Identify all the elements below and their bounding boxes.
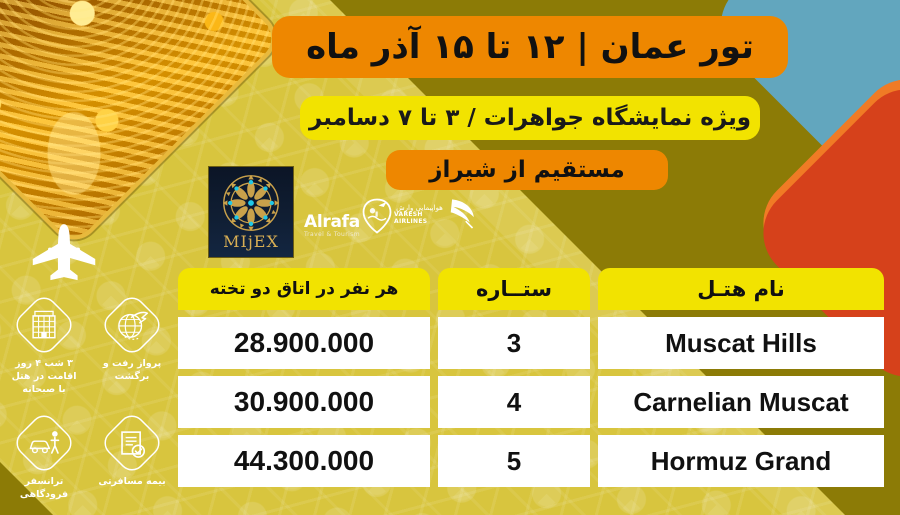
- feature-item-insurance: بیمه مسافرتی: [88, 414, 176, 502]
- features-list: پرواز رفت و برگشت: [0, 296, 176, 502]
- feature-label-transfer: ترانسفر فرودگاهی: [0, 476, 88, 502]
- varesh-logo-name-en: VARESH AIRLINES: [394, 212, 445, 226]
- cell-price: 44.300.000: [178, 435, 430, 487]
- advertisement-banner: تور عمان | ۱۲ تا ۱۵ آذر ماه ویژه نمایشگا…: [0, 0, 900, 515]
- header-star: ستــاره: [438, 268, 590, 310]
- price-table: نام هتـل ستــاره هر نفر در اتاق دو تخته …: [178, 268, 884, 494]
- cell-hotel-name: Muscat Hills: [598, 317, 884, 369]
- logo-group: MIjEX Alrafa Travel & Tourism: [208, 166, 478, 264]
- cell-price: 28.900.000: [178, 317, 430, 369]
- cell-star: 5: [438, 435, 590, 487]
- feature-item-flight: پرواز رفت و برگشت: [88, 296, 176, 396]
- globe-plane-icon: [103, 296, 161, 354]
- cell-hotel-name: Carnelian Muscat: [598, 376, 884, 428]
- feature-label-flight: پرواز رفت و برگشت: [88, 358, 176, 384]
- mijex-logo-text: MIjEX: [223, 234, 279, 250]
- cell-hotel-name: Hormuz Grand: [598, 435, 884, 487]
- feature-label-hotel: ۳ شب ۴ روزاقامت در هتلبا صبحانه: [12, 358, 77, 396]
- table-row: Carnelian Muscat 4 30.900.000: [178, 376, 884, 428]
- airplane-icon: [22, 222, 106, 290]
- table-row: Hormuz Grand 5 44.300.000: [178, 435, 884, 487]
- cell-price: 30.900.000: [178, 376, 430, 428]
- alrafa-logo-tagline: Travel & Tourism: [304, 232, 360, 238]
- table-row: Muscat Hills 3 28.900.000: [178, 317, 884, 369]
- header-hotel-name: نام هتـل: [598, 268, 884, 310]
- feature-label-insurance: بیمه مسافرتی: [98, 476, 165, 489]
- banner-title: تور عمان | ۱۲ تا ۱۵ آذر ماه: [272, 16, 788, 78]
- alrafa-badge-icon: [362, 198, 392, 238]
- mijex-logo: MIjEX: [208, 166, 294, 258]
- feature-item-transfer: ترانسفر فرودگاهی: [0, 414, 88, 502]
- insurance-document-icon: [103, 414, 161, 472]
- feature-item-hotel: ۳ شب ۴ روزاقامت در هتلبا صبحانه: [0, 296, 88, 396]
- hotel-building-icon: [15, 296, 73, 354]
- cell-star: 4: [438, 376, 590, 428]
- banner-subtitle: ویژه نمایشگاه جواهرات / ۳ تا ۷ دسامبر: [300, 96, 760, 140]
- header-price: هر نفر در اتاق دو تخته: [178, 268, 430, 310]
- rosette-icon: [222, 174, 280, 232]
- varesh-wing-icon: [448, 196, 478, 234]
- alrafa-logo-name: Alrafa: [304, 214, 360, 231]
- alrafa-logo: Alrafa Travel & Tourism: [304, 198, 392, 238]
- varesh-logo: هواپیمایی وارش VARESH AIRLINES: [394, 196, 478, 234]
- airport-transfer-icon: [15, 414, 73, 472]
- table-header-row: نام هتـل ستــاره هر نفر در اتاق دو تخته: [178, 268, 884, 310]
- cell-star: 3: [438, 317, 590, 369]
